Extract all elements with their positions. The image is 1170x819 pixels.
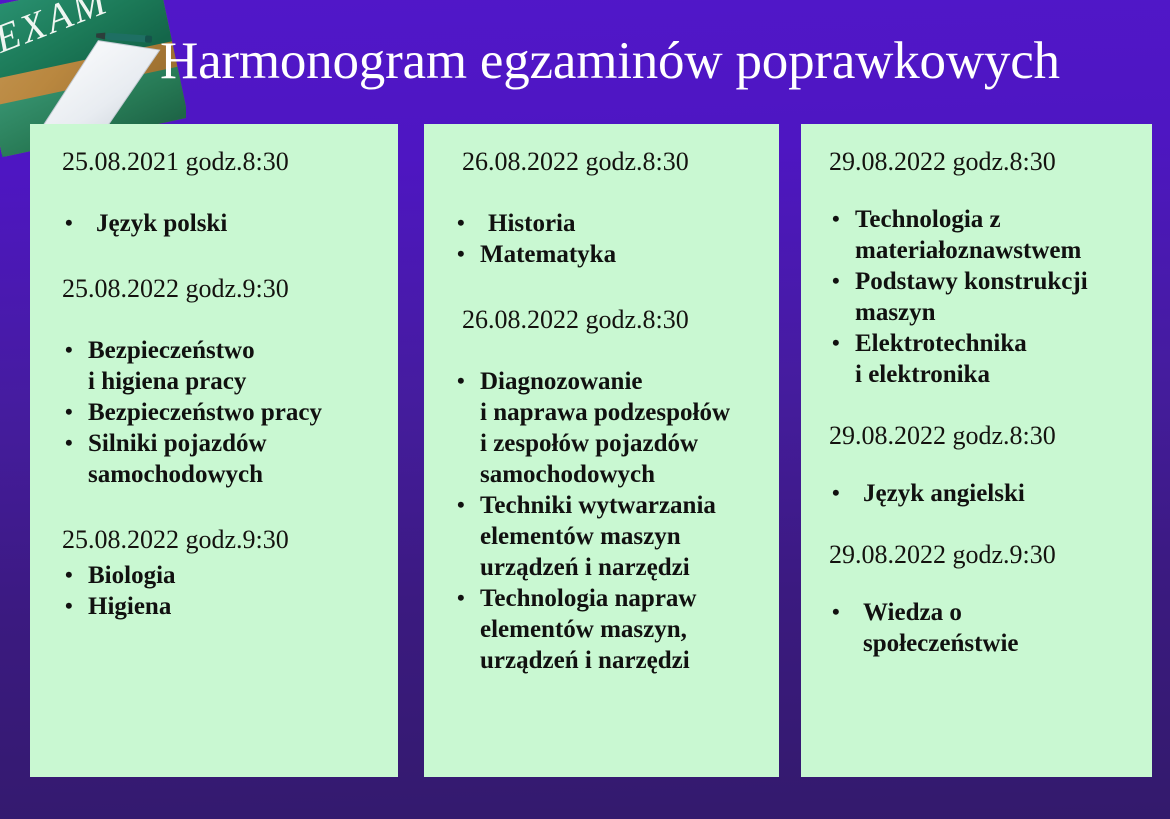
slide-root: EXAM Harmonogram egzaminów poprawkowych … [0, 0, 1170, 819]
subject-line: elementów maszyn [480, 521, 773, 552]
exam-date-heading: 25.08.2022 godz.9:30 [62, 524, 388, 556]
subject-line: Matematyka [480, 239, 773, 270]
page-title: Harmonogram egzaminów poprawkowych [160, 26, 1150, 96]
exam-date-heading: 25.08.2022 godz.9:30 [62, 273, 388, 305]
list-item: Podstawy konstrukcjimaszyn [829, 266, 1146, 328]
exam-date-heading: 29.08.2022 godz.8:30 [829, 420, 1146, 452]
date-list-spacer [454, 178, 773, 208]
date-list-spacer [62, 178, 388, 208]
subject-line: Diagnozowanie [480, 366, 773, 397]
column-1-content: 25.08.2021 godz.8:30Język polski25.08.20… [30, 124, 398, 777]
block-spacer [454, 270, 773, 304]
subject-line: Technologia z [855, 204, 1146, 235]
subject-line: Silniki pojazdów [88, 428, 388, 459]
subject-line: elementów maszyn, [480, 614, 773, 645]
list-item: Biologia [62, 560, 388, 591]
subject-line: samochodowych [88, 459, 388, 490]
exam-date-heading: 29.08.2022 godz.8:30 [829, 146, 1146, 178]
subject-line: maszyn [855, 297, 1146, 328]
block-spacer [62, 239, 388, 273]
subject-line: Język angielski [863, 478, 1146, 509]
subject-line: społeczeństwie [863, 628, 1146, 659]
exam-label: EXAM [0, 0, 115, 62]
exam-subject-list: Bezpieczeństwoi higiena pracyBezpieczeńs… [62, 335, 388, 490]
exam-subject-list: Język polski [62, 208, 388, 239]
subject-line: Elektrotechnika [855, 328, 1146, 359]
list-item: Technologia zmateriałoznawstwem [829, 204, 1146, 266]
date-list-spacer [829, 178, 1146, 204]
list-item: Technologia naprawelementów maszyn,urząd… [454, 583, 773, 676]
exam-date-heading: 29.08.2022 godz.9:30 [829, 539, 1146, 571]
list-item: Język angielski [829, 478, 1146, 509]
subject-line: Bezpieczeństwo [88, 335, 388, 366]
date-list-spacer [62, 305, 388, 335]
subject-line: materiałoznawstwem [855, 235, 1146, 266]
subject-line: Podstawy konstrukcji [855, 266, 1146, 297]
subject-line: i elektronika [855, 359, 1146, 390]
list-item: Bezpieczeństwoi higiena pracy [62, 335, 388, 397]
schedule-column-1: 25.08.2021 godz.8:30Język polski25.08.20… [30, 124, 398, 777]
subject-line: Historia [488, 208, 773, 239]
schedule-column-2: 26.08.2022 godz.8:30HistoriaMatematyka26… [424, 124, 779, 777]
list-item: Diagnozowaniei naprawa podzespołówi zesp… [454, 366, 773, 490]
exam-date-heading: 26.08.2022 godz.8:30 [454, 146, 773, 178]
list-item: Matematyka [454, 239, 773, 270]
date-list-spacer [829, 571, 1146, 597]
exam-subject-list: Język angielski [829, 478, 1146, 509]
list-item: Silniki pojazdówsamochodowych [62, 428, 388, 490]
block-spacer [829, 390, 1146, 420]
list-item: Wiedza ospołeczeństwie [829, 597, 1146, 659]
pen-icon [96, 32, 152, 43]
subject-line: urządzeń i narzędzi [480, 552, 773, 583]
subject-line: i zespołów pojazdów [480, 428, 773, 459]
list-item: Historia [454, 208, 773, 239]
exam-subject-list: Diagnozowaniei naprawa podzespołówi zesp… [454, 366, 773, 676]
subject-line: i higiena pracy [88, 366, 388, 397]
date-list-spacer [454, 336, 773, 366]
subject-line: Biologia [88, 560, 388, 591]
list-item: Bezpieczeństwo pracy [62, 397, 388, 428]
block-spacer [62, 490, 388, 524]
exam-date-heading: 25.08.2021 godz.8:30 [62, 146, 388, 178]
subject-line: Wiedza o [863, 597, 1146, 628]
list-item: Techniki wytwarzaniaelementów maszynurzą… [454, 490, 773, 583]
subject-line: Techniki wytwarzania [480, 490, 773, 521]
schedule-column-3: 29.08.2022 godz.8:30Technologia zmateria… [801, 124, 1152, 777]
exam-subject-list: Wiedza ospołeczeństwie [829, 597, 1146, 659]
column-3-content: 29.08.2022 godz.8:30Technologia zmateria… [801, 124, 1152, 777]
list-item: Język polski [62, 208, 388, 239]
subject-line: Technologia napraw [480, 583, 773, 614]
list-item: Higiena [62, 591, 388, 622]
block-spacer [829, 509, 1146, 539]
exam-subject-list: BiologiaHigiena [62, 560, 388, 622]
exam-date-heading: 26.08.2022 godz.8:30 [454, 304, 773, 336]
subject-line: Język polski [96, 208, 388, 239]
column-2-content: 26.08.2022 godz.8:30HistoriaMatematyka26… [424, 124, 779, 777]
exam-subject-list: Technologia zmateriałoznawstwemPodstawy … [829, 204, 1146, 390]
subject-line: samochodowych [480, 459, 773, 490]
subject-line: i naprawa podzespołów [480, 397, 773, 428]
list-item: Elektrotechnikai elektronika [829, 328, 1146, 390]
exam-subject-list: HistoriaMatematyka [454, 208, 773, 270]
subject-line: Bezpieczeństwo pracy [88, 397, 388, 428]
subject-line: Higiena [88, 591, 388, 622]
subject-line: urządzeń i narzędzi [480, 645, 773, 676]
date-list-spacer [829, 452, 1146, 478]
